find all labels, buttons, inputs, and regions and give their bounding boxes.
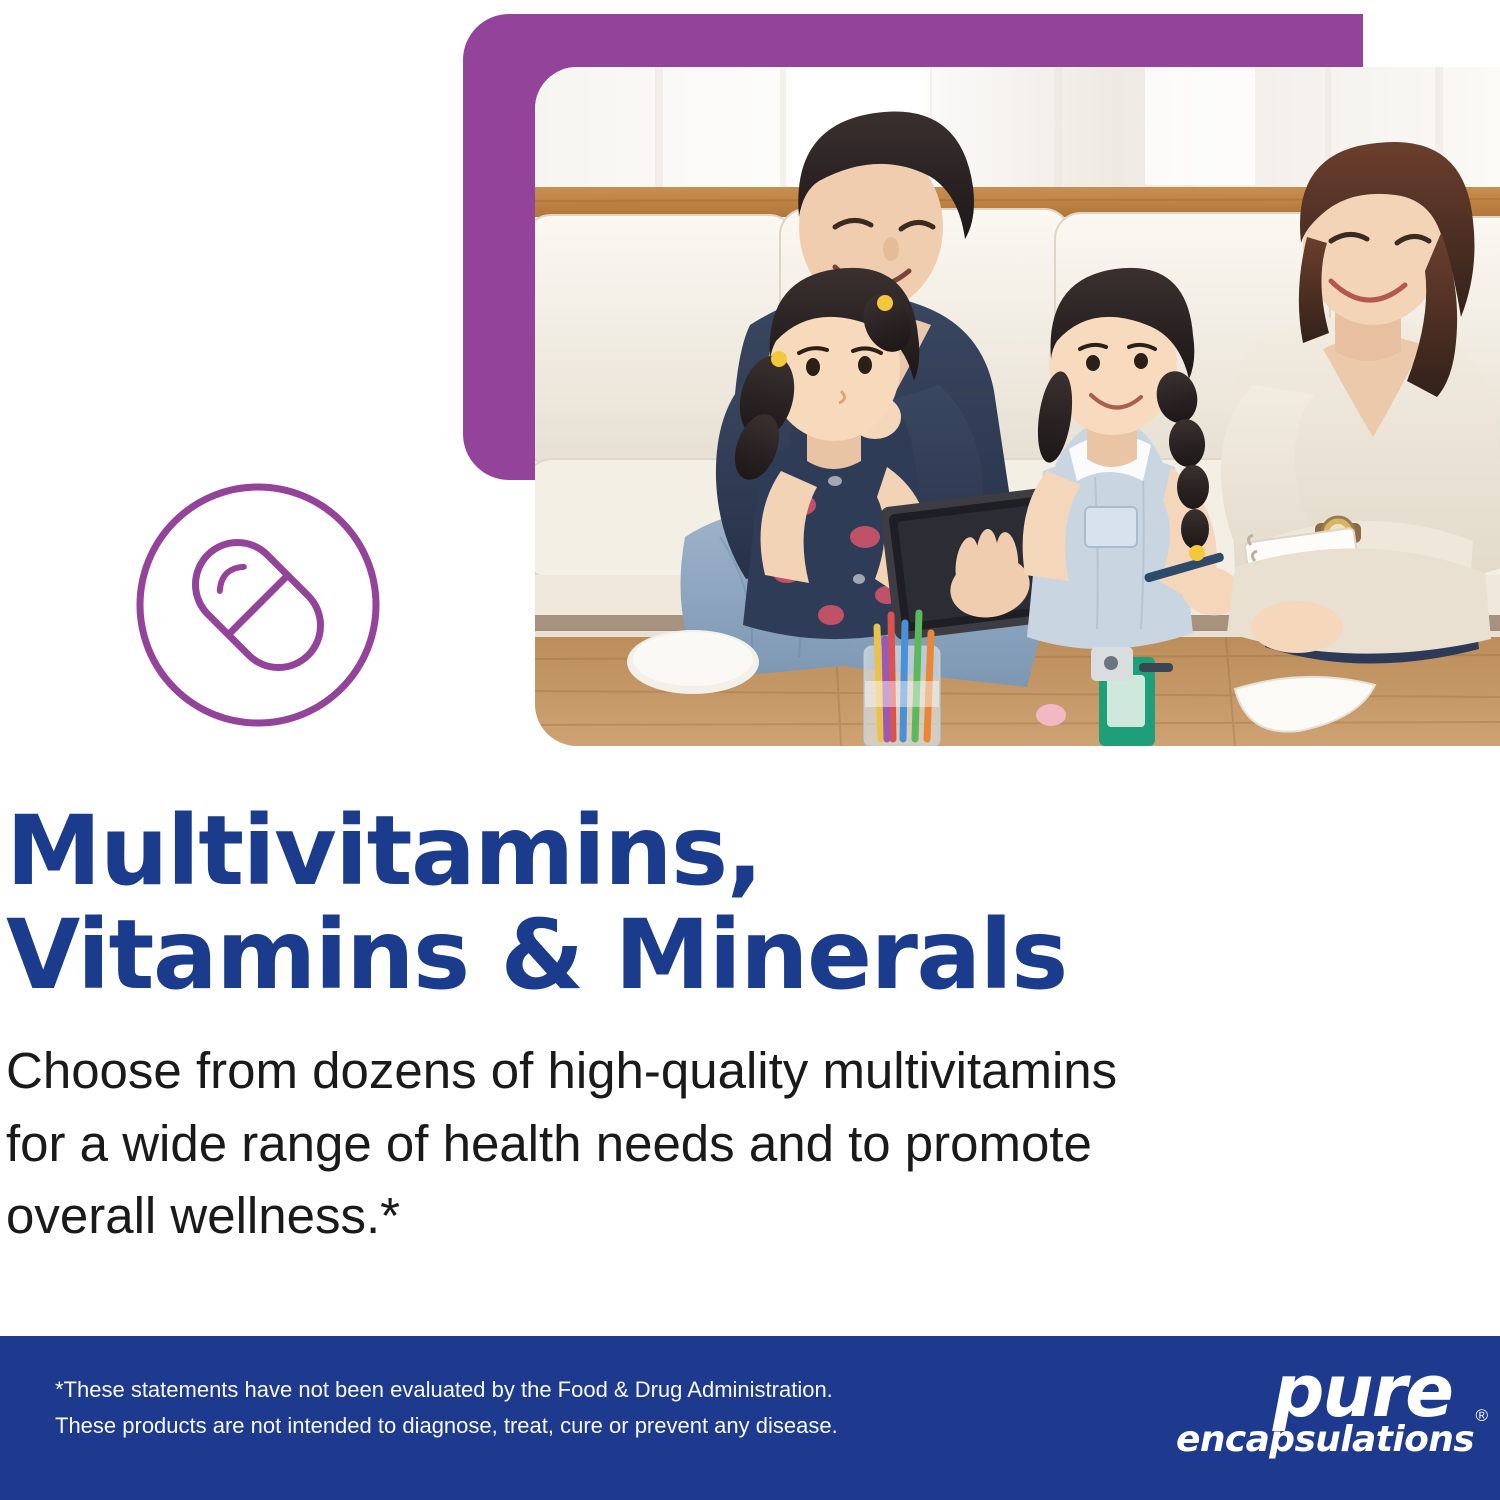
registered-trademark-icon: ® <box>1475 1406 1488 1426</box>
family-photo-illustration <box>535 67 1500 746</box>
capsule-pill-icon <box>133 480 383 730</box>
page-title: Multivitamins, Vitamins & Minerals <box>6 800 1400 1007</box>
capsule-pill-icon-svg <box>133 480 383 730</box>
footer-bar: *These statements have not been evaluate… <box>0 1336 1500 1500</box>
family-photo <box>535 67 1500 746</box>
fda-disclaimer: *These statements have not been evaluate… <box>55 1372 838 1443</box>
page-description: Choose from dozens of high-quality multi… <box>6 1035 1306 1252</box>
brand-subname-row: encapsulations ® <box>1176 1422 1472 1458</box>
content-section: Multivitamins, Vitamins & Minerals Choos… <box>0 800 1400 1253</box>
marketing-banner: Multivitamins, Vitamins & Minerals Choos… <box>0 0 1500 1500</box>
brand-name-primary: pure <box>1176 1358 1452 1424</box>
pencil-jar <box>865 613 939 746</box>
brand-name-secondary: encapsulations <box>1176 1419 1474 1460</box>
pink-eraser <box>1036 704 1066 726</box>
brand-logo: pure encapsulations ® <box>1176 1358 1476 1474</box>
hero-section <box>0 0 1500 800</box>
